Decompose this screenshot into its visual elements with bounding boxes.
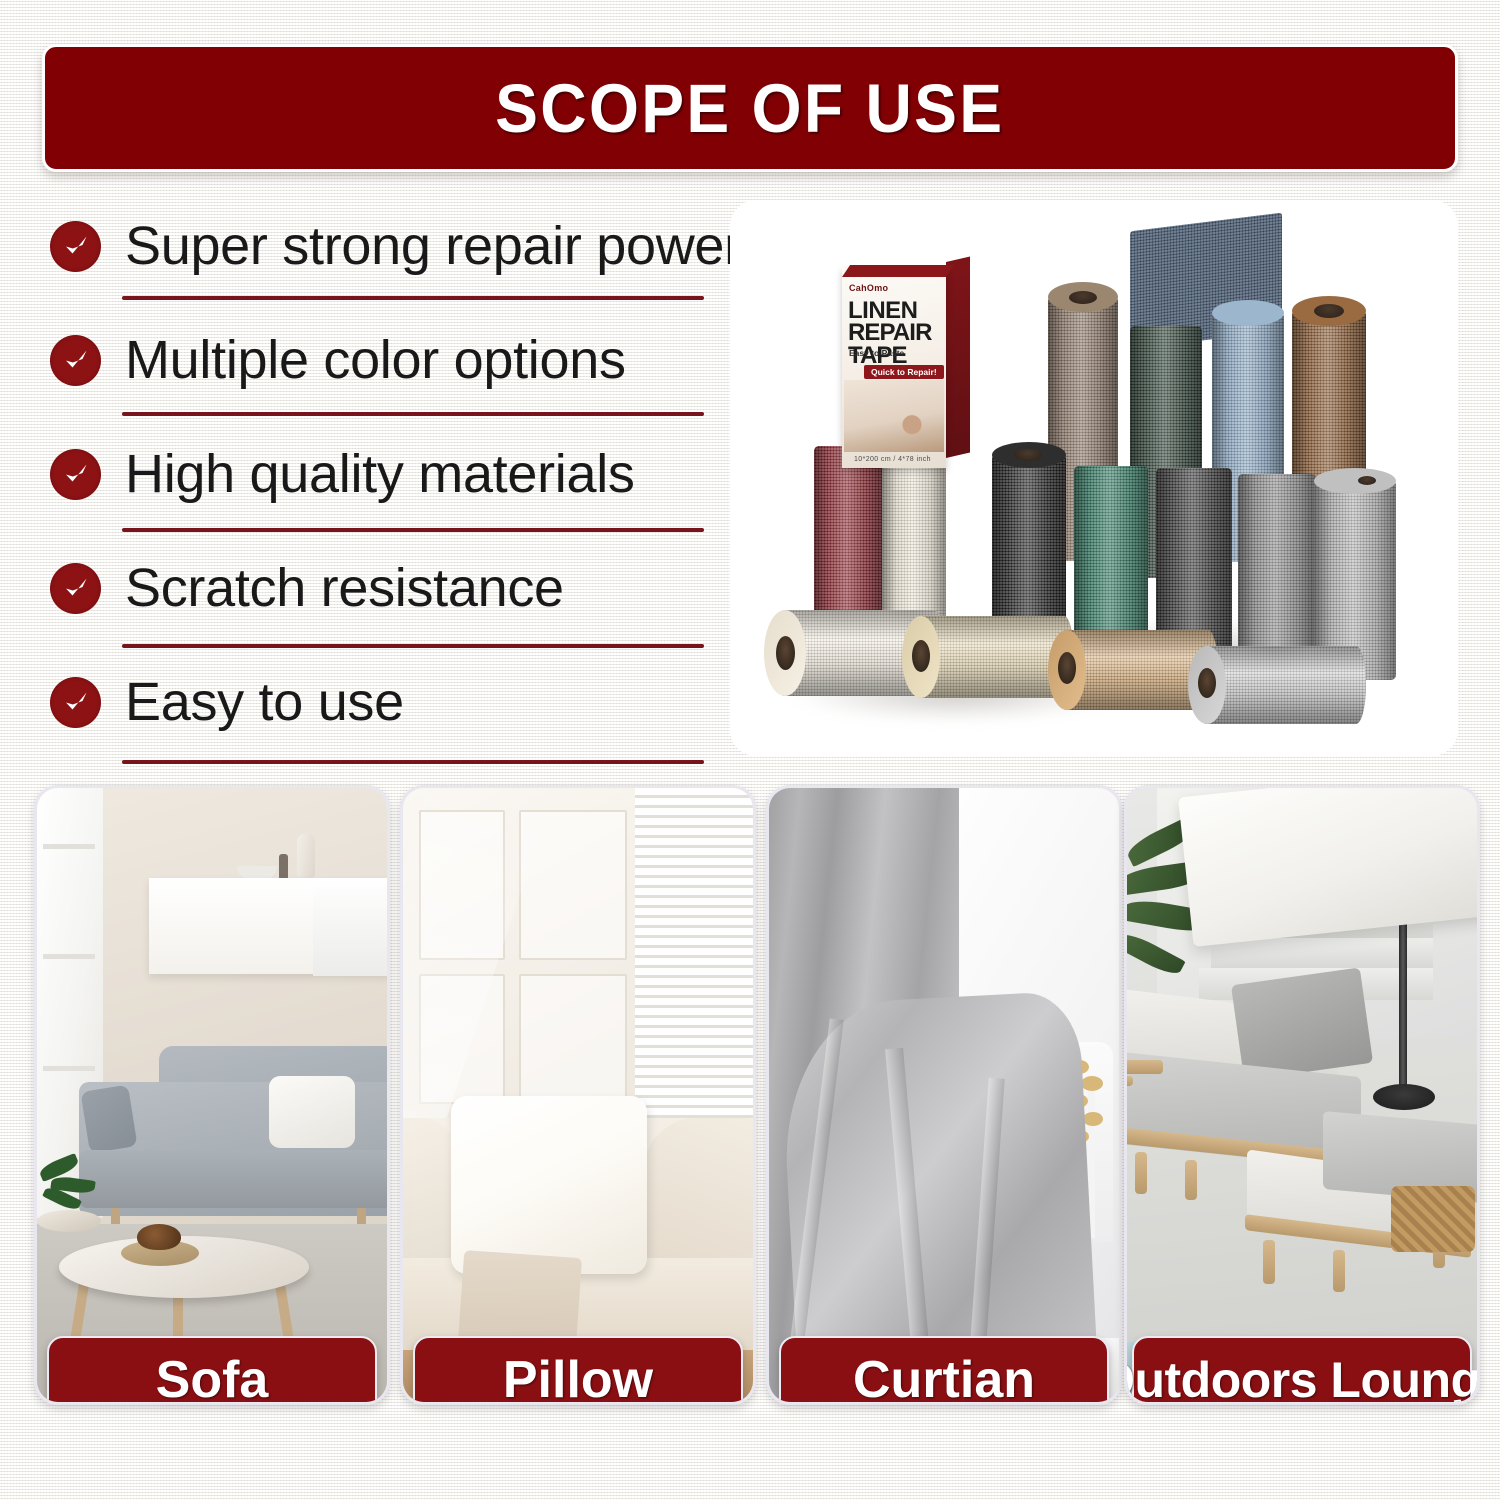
feature-item: Scratch resistance <box>46 538 706 638</box>
roll-top <box>1212 300 1284 326</box>
scene-card-sofa[interactable]: Sofa <box>34 785 390 1405</box>
feature-item: Easy to use <box>46 652 706 752</box>
box-top-cap <box>842 265 954 277</box>
sofa-photo <box>37 788 387 1402</box>
scene-label-sofa: Sofa <box>47 1336 377 1405</box>
box-size-text: 10*200 cm / 4*78 inch <box>854 456 931 463</box>
tape-roll-grey <box>1238 474 1316 672</box>
check-circle-icon <box>50 449 101 500</box>
feature-label: Easy to use <box>125 675 404 729</box>
curtain-photo <box>769 788 1119 1402</box>
roll-hole <box>1198 668 1216 698</box>
box-badge-quick-to-repair: Quick to Repair! <box>864 365 944 379</box>
box-side-panel <box>946 256 970 458</box>
feature-divider <box>122 528 704 532</box>
product-rolls-scene: CahOmo LINEN REPAIR TAPE Easy to Paste Q… <box>730 200 1458 756</box>
box-front-panel: CahOmo LINEN REPAIR TAPE Easy to Paste Q… <box>842 268 946 468</box>
check-circle-icon <box>50 335 101 386</box>
product-box: CahOmo LINEN REPAIR TAPE Easy to Paste Q… <box>842 262 970 468</box>
check-circle-icon <box>50 563 101 614</box>
roll-top <box>1314 468 1396 494</box>
product-photo-card: CahOmo LINEN REPAIR TAPE Easy to Paste Q… <box>730 200 1458 756</box>
scene-label-curtain: Curtian <box>779 1336 1109 1405</box>
feature-divider <box>122 760 704 764</box>
feature-label: High quality materials <box>125 447 635 501</box>
feature-list: Super strong repair power Multiple color… <box>46 196 706 766</box>
feature-label: Super strong repair power <box>125 219 742 273</box>
box-badge-easy-to-paste: Easy to Paste <box>849 348 904 358</box>
roll-hole <box>1058 652 1076 684</box>
page-title: SCOPE OF USE <box>495 69 1004 148</box>
box-title-line2: REPAIR TAPE <box>848 321 946 367</box>
feature-divider <box>122 296 704 300</box>
feature-item: Multiple color options <box>46 310 706 410</box>
roll-hole <box>776 636 795 670</box>
feature-label: Scratch resistance <box>125 561 564 615</box>
feature-item: High quality materials <box>46 424 706 524</box>
pillow-photo <box>403 788 753 1402</box>
roll-hole <box>912 640 930 672</box>
roll-hole <box>1069 291 1097 304</box>
feature-label: Multiple color options <box>125 333 626 387</box>
scene-card-outdoors-lounge[interactable]: Outdoors Lounge <box>1124 785 1480 1405</box>
feature-divider <box>122 412 704 416</box>
outdoors-lounge-photo <box>1127 788 1477 1402</box>
check-circle-icon <box>50 221 101 272</box>
scene-label-pillow: Pillow <box>413 1336 743 1405</box>
scene-label-outdoors-lounge: Outdoors Lounge <box>1132 1336 1472 1405</box>
page-header-banner: SCOPE OF USE <box>42 44 1458 172</box>
box-lifestyle-photo <box>844 380 944 452</box>
feature-divider <box>122 644 704 648</box>
roll-hole <box>1014 449 1042 461</box>
brand-logo: CahOmo <box>849 283 888 293</box>
feature-item: Super strong repair power <box>46 196 706 296</box>
roll-hole <box>1314 304 1344 318</box>
scene-card-pillow[interactable]: Pillow <box>400 785 756 1405</box>
scene-card-curtain[interactable]: Curtian <box>766 785 1122 1405</box>
check-circle-icon <box>50 677 101 728</box>
roll-hole <box>1358 476 1376 485</box>
